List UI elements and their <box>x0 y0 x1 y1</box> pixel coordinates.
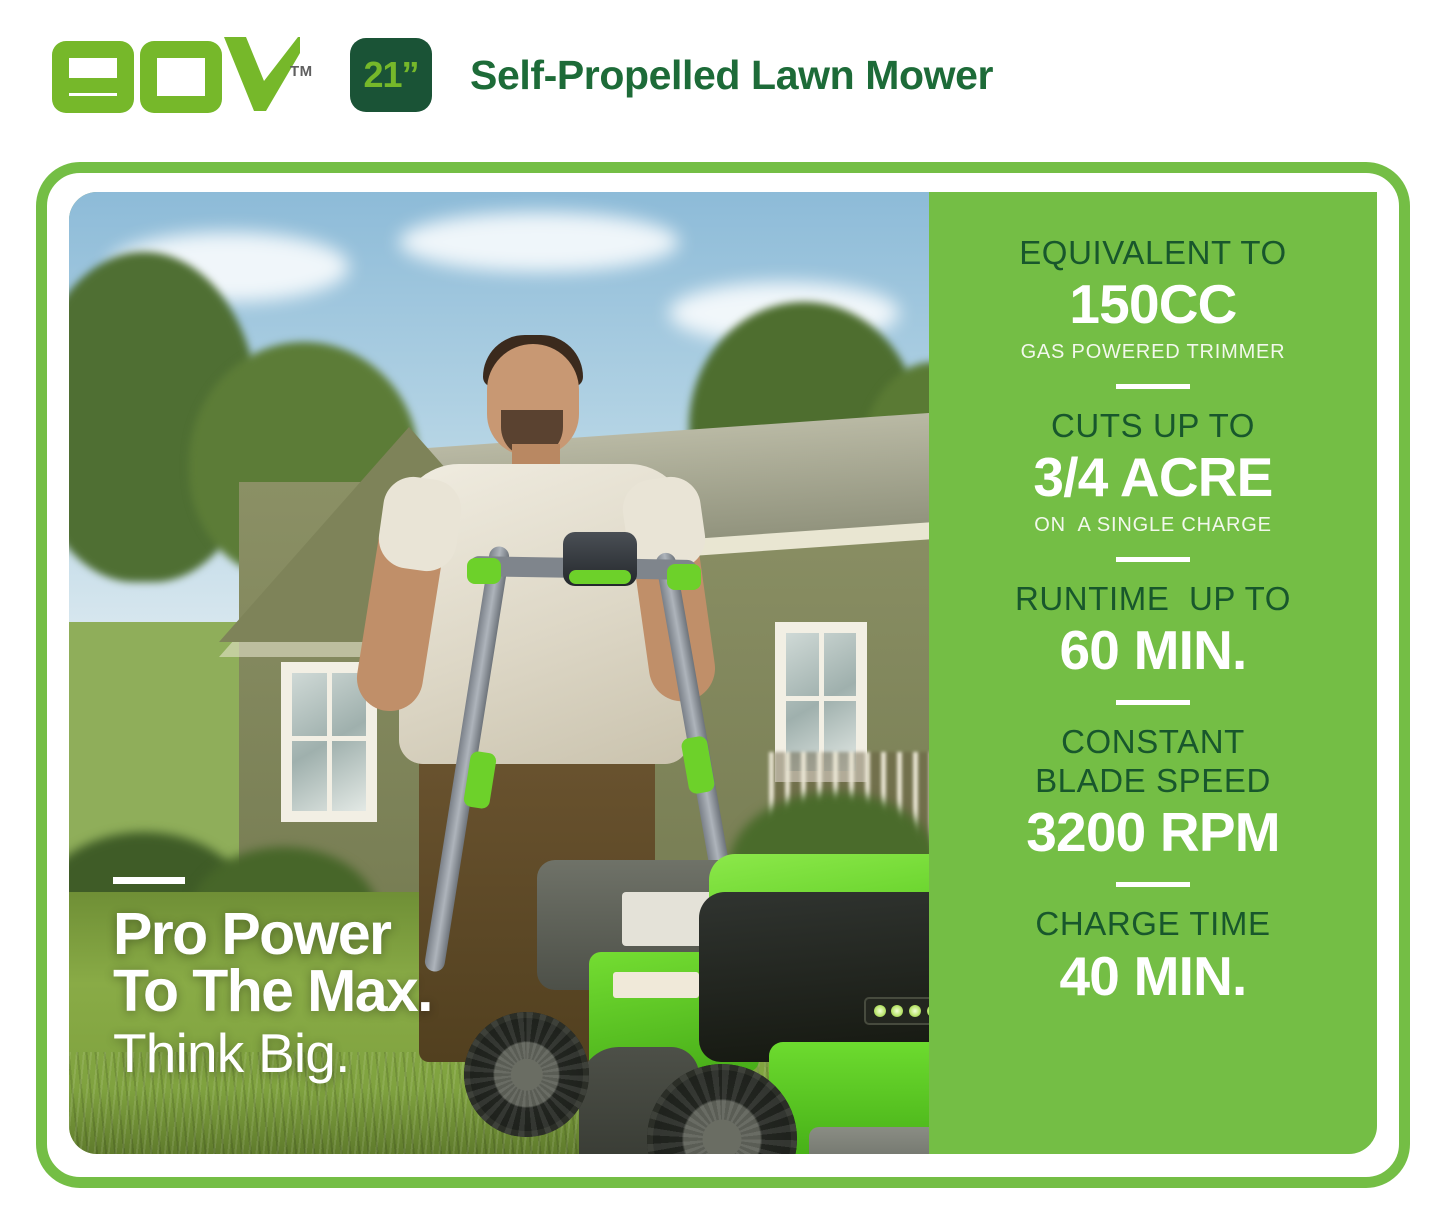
logo-digit-zero <box>140 41 222 113</box>
led-light <box>874 1005 886 1017</box>
spec-sub: ON A SINGLE CHARGE <box>929 514 1377 537</box>
logo-volt-v-icon <box>224 37 300 115</box>
spec-label: EQUIVALENT TO <box>929 234 1377 272</box>
spec-block-cut-area: CUTS UP TO 3/4 ACRE ON A SINGLE CHARGE <box>929 407 1377 537</box>
warning-sticker <box>613 972 699 998</box>
tagline-line-1: Pro Power <box>113 906 432 963</box>
mower-grip-left <box>467 558 501 584</box>
trademark-mark: TM <box>290 63 313 80</box>
page-title: Self-Propelled Lawn Mower <box>470 52 993 99</box>
mower-grip-right <box>667 564 701 590</box>
80v-logo-icon: TM <box>52 35 302 115</box>
spec-label: CUTS UP TO <box>929 407 1377 445</box>
spec-label: CHARGE TIME <box>929 905 1377 943</box>
spec-sub: GAS POWERED TRIMMER <box>929 341 1377 364</box>
mower-hood-black <box>699 892 929 1062</box>
mower-led-headlights <box>864 997 929 1025</box>
spec-block-blade-speed: CONSTANT BLADE SPEED 3200 RPM <box>929 723 1377 862</box>
header: TM 21” Self-Propelled Lawn Mower <box>0 0 1445 150</box>
spec-value: 60 MIN. <box>929 620 1377 681</box>
led-light <box>909 1005 921 1017</box>
mower-wheel-rear <box>464 1012 589 1137</box>
tagline-overlay: Pro Power To The Max. Think Big. <box>113 877 432 1082</box>
spec-divider <box>1116 882 1190 887</box>
mower-control-accent <box>569 570 631 584</box>
tagline-line-2: To The Max. <box>113 963 432 1020</box>
logo-digit-eight <box>52 41 134 113</box>
specifications-panel: EQUIVALENT TO 150CC GAS POWERED TRIMMER … <box>929 192 1377 1154</box>
spec-value: 3/4 ACRE <box>929 447 1377 508</box>
spec-divider <box>1116 384 1190 389</box>
spec-block-charge-time: CHARGE TIME 40 MIN. <box>929 905 1377 1006</box>
wheel-tread <box>464 1012 589 1137</box>
size-badge: 21” <box>350 38 432 112</box>
tagline-line-3: Think Big. <box>113 1024 432 1082</box>
spec-divider <box>1116 557 1190 562</box>
spec-divider <box>1116 700 1190 705</box>
led-light <box>891 1005 903 1017</box>
led-light <box>927 1005 929 1017</box>
mower-deck-skirt <box>809 1127 929 1154</box>
spec-block-runtime: RUNTIME UP TO 60 MIN. <box>929 580 1377 681</box>
spec-value: 150CC <box>929 274 1377 335</box>
tagline-rule <box>113 877 185 884</box>
size-badge-label: 21” <box>363 57 418 93</box>
window-mullion <box>327 673 332 811</box>
spec-label: RUNTIME UP TO <box>929 580 1377 618</box>
spec-value: 3200 RPM <box>929 802 1377 863</box>
cloud-shape <box>399 212 679 272</box>
spec-block-equivalent: EQUIVALENT TO 150CC GAS POWERED TRIMMER <box>929 234 1377 364</box>
window-mullion <box>819 633 824 771</box>
content-card: Pro Power To The Max. Think Big. EQUIVAL… <box>69 192 1377 1154</box>
product-lifestyle-photo: Pro Power To The Max. Think Big. <box>69 192 929 1154</box>
spec-value: 40 MIN. <box>929 946 1377 1007</box>
spec-label: CONSTANT BLADE SPEED <box>929 723 1377 800</box>
